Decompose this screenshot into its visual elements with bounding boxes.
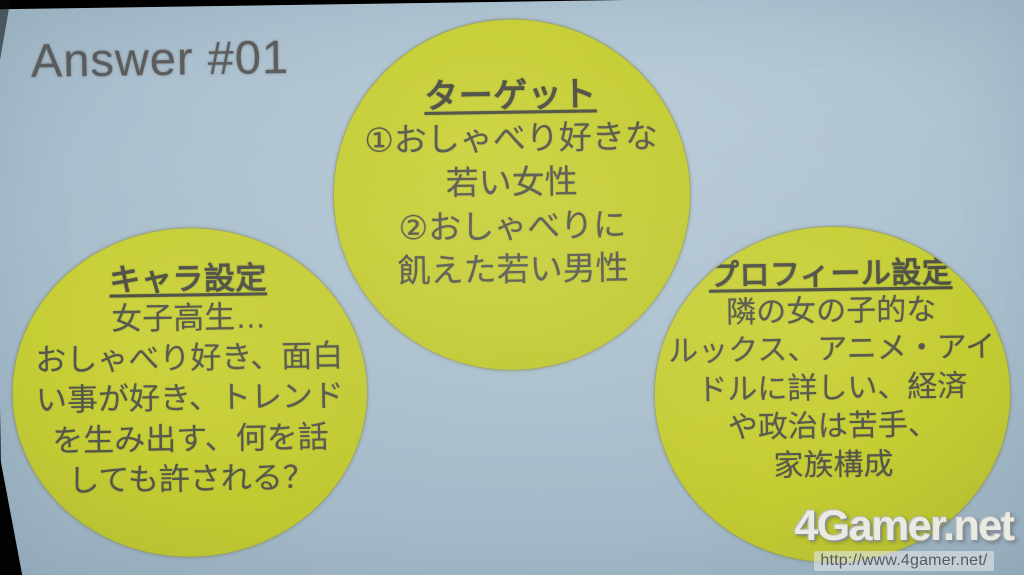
bubble-profile-settings: プロフィール設定 隣の女の子的な ルックス、アニメ・アイ ドルに詳しい、経済 や… — [651, 223, 1013, 565]
bubble-character-settings: キャラ設定 女子高生… おしゃべり好き、面白 い事が好き、トレンド を生み出す、… — [9, 225, 370, 560]
bubble-target-line-3: ②おしゃべりに — [398, 203, 626, 250]
bubble-profile-settings-line-1: 隣の女の子的な — [726, 291, 937, 333]
bubble-profile-settings-line-4: や政治は苦手、 — [728, 407, 939, 449]
bubble-character-settings-line-3: い事が好き、トレンド — [36, 377, 344, 422]
bubble-character-settings-line-1: 女子高生… — [111, 297, 267, 340]
bubble-target-line-1: ①おしゃべり好きな — [364, 115, 658, 163]
bubble-character-settings-line-5: しても許される？ — [68, 458, 314, 502]
bubble-target-line-4: 飢えた若い男性 — [397, 246, 629, 293]
page-title: Answer #01 — [30, 29, 289, 88]
bubble-target-heading: ターゲット — [424, 74, 597, 118]
bubble-character-settings-heading: キャラ設定 — [109, 259, 267, 299]
slide-surface: Answer #01 ターゲット ①おしゃべり好きな 若い女性 ②おしゃべりに … — [0, 0, 1024, 575]
bubble-profile-settings-line-5: 家族構成 — [773, 446, 894, 486]
bubble-profile-settings-line-2: ルックス、アニメ・アイ — [668, 329, 996, 372]
bubble-target-line-2: 若い女性 — [445, 160, 578, 206]
bubble-character-settings-line-2: おしゃべり好き、面白 — [35, 336, 343, 381]
bubble-target: ターゲット ①おしゃべり好きな 若い女性 ②おしゃべりに 飢えた若い男性 — [330, 16, 693, 373]
projected-slide-photo: Answer #01 ターゲット ①おしゃべり好きな 若い女性 ②おしゃべりに … — [0, 0, 1024, 575]
bubble-character-settings-line-4: を生み出す、何を話 — [52, 417, 329, 461]
bubble-profile-settings-line-3: ドルに詳しい、経済 — [697, 368, 968, 410]
bubble-profile-settings-heading: プロフィール設定 — [709, 255, 953, 295]
